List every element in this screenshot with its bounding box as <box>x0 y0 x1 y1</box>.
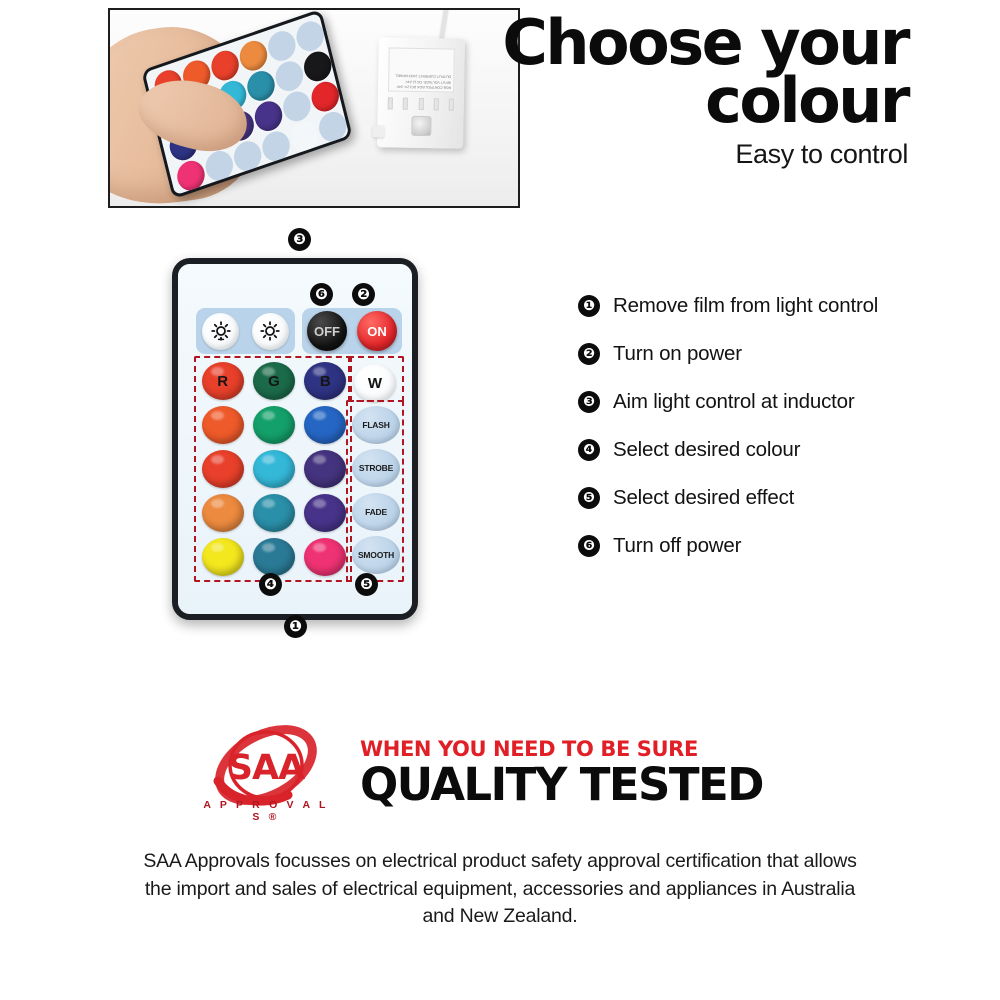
list-item: ❹ Select desired colour <box>578 426 978 474</box>
white-button-outline <box>348 356 404 402</box>
brightness-panel <box>196 308 295 354</box>
step-label: Aim light control at inductor <box>613 390 854 414</box>
led-controller-box: RGB CONTROL BOX DC12V~24V INPUT VOLTAGE:… <box>377 37 465 148</box>
remote-top-row: OFF ON <box>196 308 402 354</box>
on-button[interactable]: ON <box>357 311 397 351</box>
list-item: ❺ Select desired effect <box>578 474 978 522</box>
saa-approvals-label: A P P R O V A L S ® <box>196 799 336 823</box>
callout-badge-2: ❷ <box>352 283 375 306</box>
list-item: ❷ Turn on power <box>578 330 978 378</box>
list-item: ❻ Turn off power <box>578 522 978 570</box>
step-number-badge: ❸ <box>578 391 600 413</box>
saa-certification-block: SAA A P P R O V A L S ® WHEN YOU NEED TO… <box>196 718 816 826</box>
off-button[interactable]: OFF <box>307 311 347 351</box>
remote-face: OFF ON R G B W <box>178 264 412 614</box>
instruction-list: ❶ Remove film from light control ❷ Turn … <box>578 282 978 570</box>
step-label: Turn off power <box>613 534 741 558</box>
sun-bright-icon[interactable] <box>202 313 239 350</box>
step-label: Select desired effect <box>613 486 794 510</box>
saa-headline: QUALITY TESTED <box>360 762 816 807</box>
page-subtitle: Easy to control <box>488 139 908 170</box>
callout-badge-5: ❺ <box>355 573 378 596</box>
controller-wire <box>439 8 448 40</box>
step-label: Turn on power <box>613 342 742 366</box>
step-number-badge: ❺ <box>578 487 600 509</box>
page-title-line2: colour <box>488 72 908 130</box>
controller-mount-tab <box>372 125 384 137</box>
list-item: ❸ Aim light control at inductor <box>578 378 978 426</box>
saa-logo: SAA A P P R O V A L S ® <box>196 719 336 825</box>
ir-receiver-icon <box>411 116 431 136</box>
callout-badge-3: ❸ <box>288 228 311 251</box>
infographic-page: RGB CONTROL BOX DC12V~24V INPUT VOLTAGE:… <box>0 0 1000 1000</box>
svg-text:SAA: SAA <box>228 748 305 788</box>
header: Choose your colour Easy to control <box>488 14 908 170</box>
step-number-badge: ❹ <box>578 439 600 461</box>
step-label: Remove film from light control <box>613 294 878 318</box>
saa-description: SAA Approvals focusses on electrical pro… <box>130 848 870 931</box>
step-number-badge: ❶ <box>578 295 600 317</box>
step-number-badge: ❷ <box>578 343 600 365</box>
controller-label: RGB CONTROL BOX DC12V~24V INPUT VOLTAGE:… <box>388 47 455 92</box>
power-panel: OFF ON <box>302 308 402 354</box>
effects-area-outline <box>346 400 404 582</box>
callout-badge-4: ❹ <box>259 573 282 596</box>
list-item: ❶ Remove film from light control <box>578 282 978 330</box>
step-number-badge: ❻ <box>578 535 600 557</box>
colour-area-outline <box>194 356 352 582</box>
photo-background: RGB CONTROL BOX DC12V~24V INPUT VOLTAGE:… <box>110 10 518 206</box>
callout-badge-6: ❻ <box>310 283 333 306</box>
saa-text-block: WHEN YOU NEED TO BE SURE QUALITY TESTED <box>360 737 816 807</box>
step-label: Select desired colour <box>613 438 800 462</box>
remote-control-diagram: OFF ON R G B W <box>172 258 418 620</box>
callout-badge-1: ❶ <box>284 615 307 638</box>
product-photo: RGB CONTROL BOX DC12V~24V INPUT VOLTAGE:… <box>108 8 520 208</box>
sun-dim-icon[interactable] <box>252 313 289 350</box>
controller-terminal-pins <box>388 97 454 110</box>
